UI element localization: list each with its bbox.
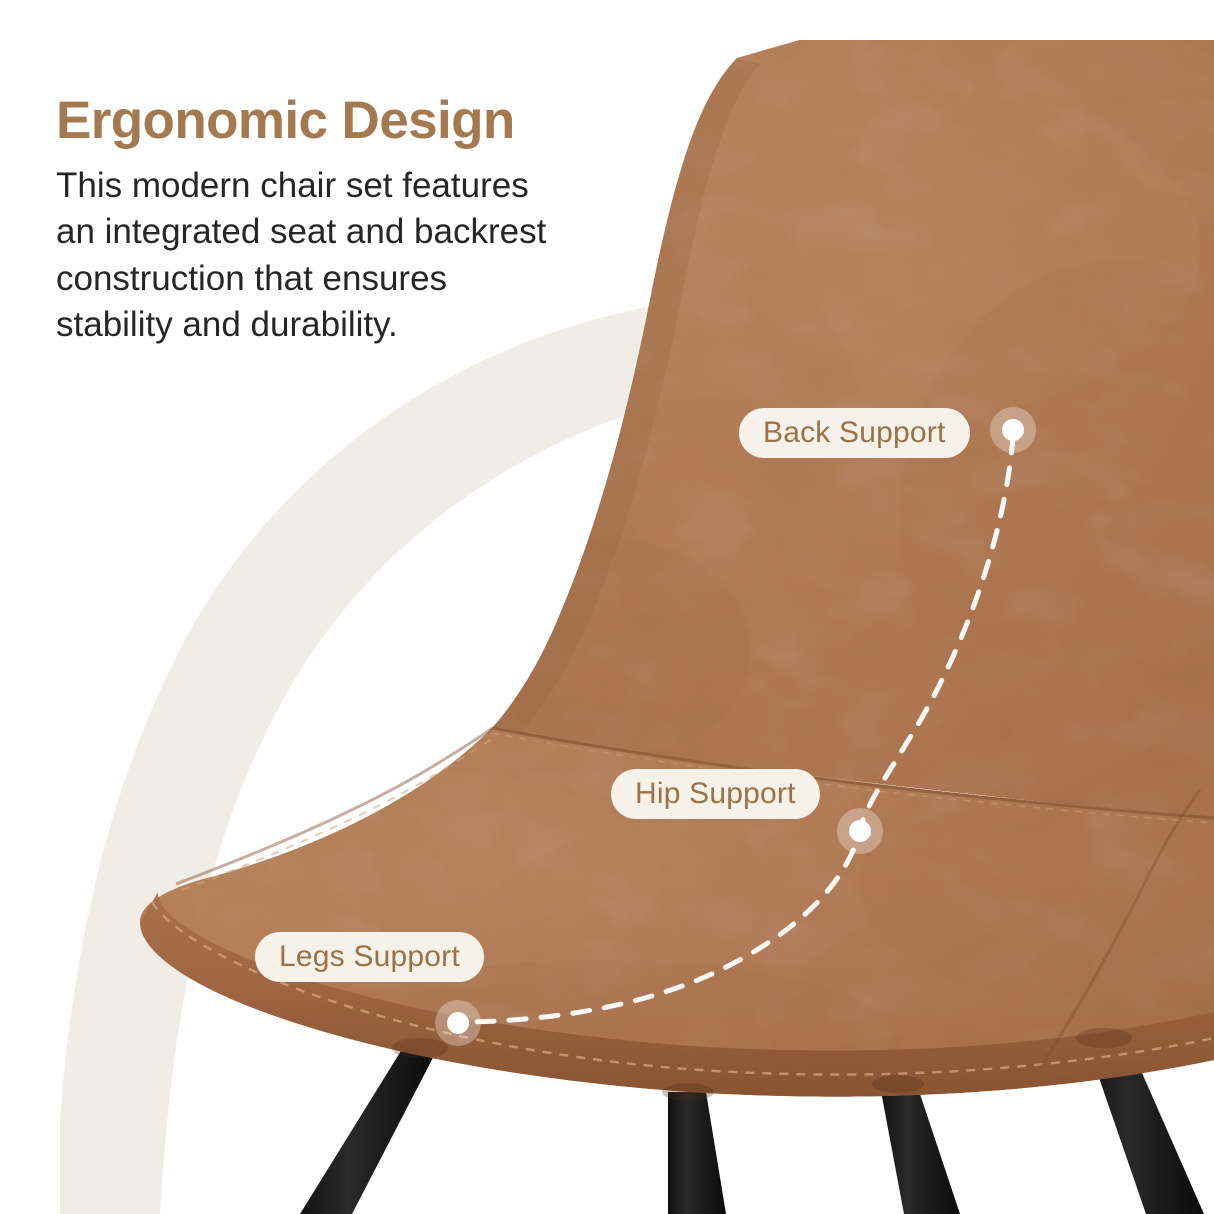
description-line-3: construction that ensures xyxy=(56,256,656,302)
callout-connector-path xyxy=(458,436,1013,1022)
page-description: This modern chair set features an integr… xyxy=(56,163,656,348)
description-line-1: This modern chair set features xyxy=(56,163,656,209)
description-line-2: an integrated seat and backrest xyxy=(56,209,656,255)
legs-support-marker-dot xyxy=(435,1000,481,1046)
callout-label-hip-support: Hip Support xyxy=(611,769,820,819)
page-title: Ergonomic Design xyxy=(56,92,656,149)
back-support-marker-dot xyxy=(990,407,1036,453)
callout-label-back-support: Back Support xyxy=(739,408,970,458)
intro-text-block: Ergonomic Design This modern chair set f… xyxy=(56,92,656,348)
description-line-4: stability and durability. xyxy=(56,302,656,348)
infographic-canvas: Ergonomic Design This modern chair set f… xyxy=(0,0,1214,1214)
callout-label-legs-support: Legs Support xyxy=(255,932,484,982)
hip-support-marker-dot xyxy=(837,808,883,854)
